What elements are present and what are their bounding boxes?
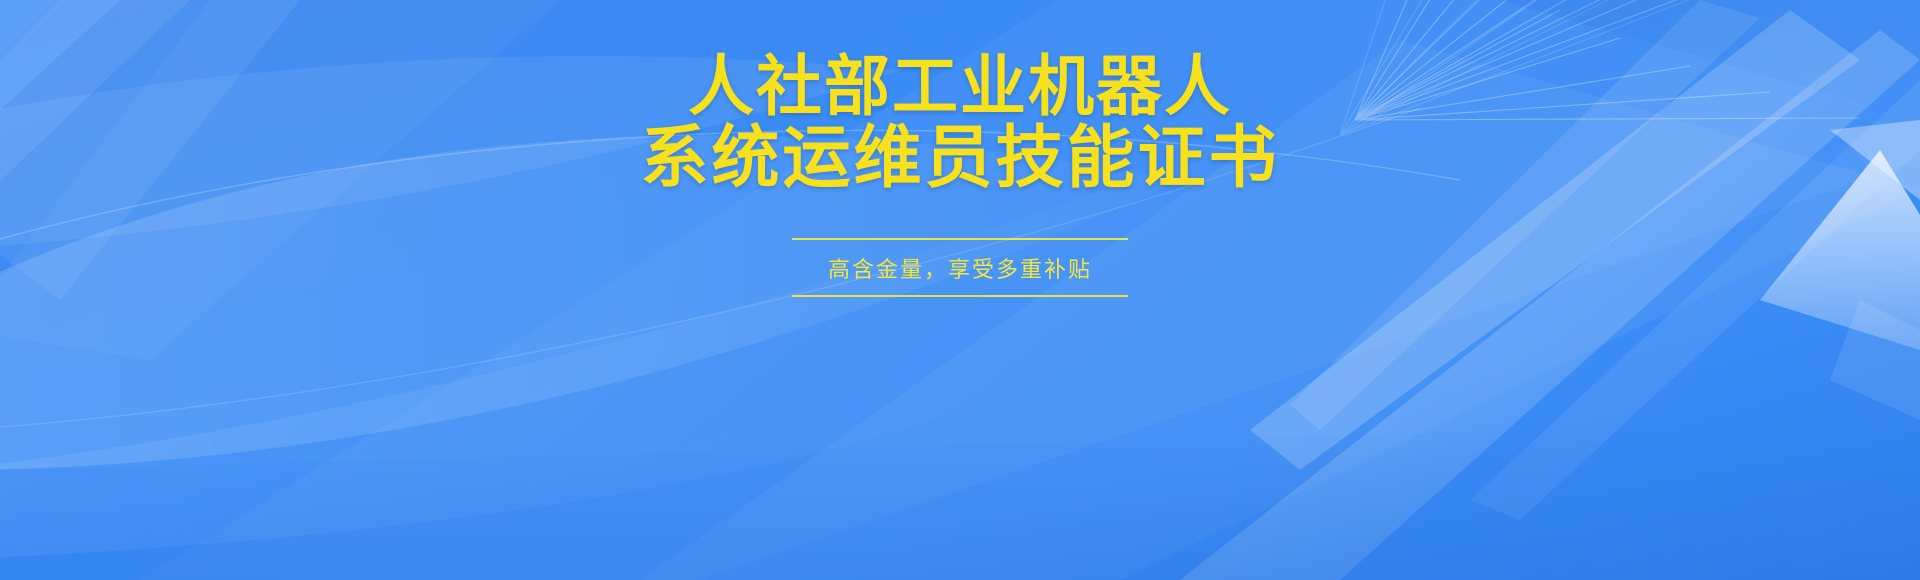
banner-subtitle-block: 高含金量，享受多重补贴 bbox=[792, 238, 1128, 297]
subtitle-rule-bottom bbox=[792, 295, 1128, 297]
subtitle-rule-top bbox=[792, 238, 1128, 240]
headline-line-1: 人社部工业机器人 bbox=[640, 52, 1279, 122]
headline-line-2: 系统运维员技能证书 bbox=[640, 122, 1279, 194]
banner-headline: 人社部工业机器人 系统运维员技能证书 bbox=[640, 52, 1279, 194]
banner-subtitle: 高含金量，享受多重补贴 bbox=[792, 240, 1128, 295]
banner-content: 人社部工业机器人 系统运维员技能证书 高含金量，享受多重补贴 bbox=[0, 0, 1920, 580]
promo-banner: 人社部工业机器人 系统运维员技能证书 高含金量，享受多重补贴 bbox=[0, 0, 1920, 580]
